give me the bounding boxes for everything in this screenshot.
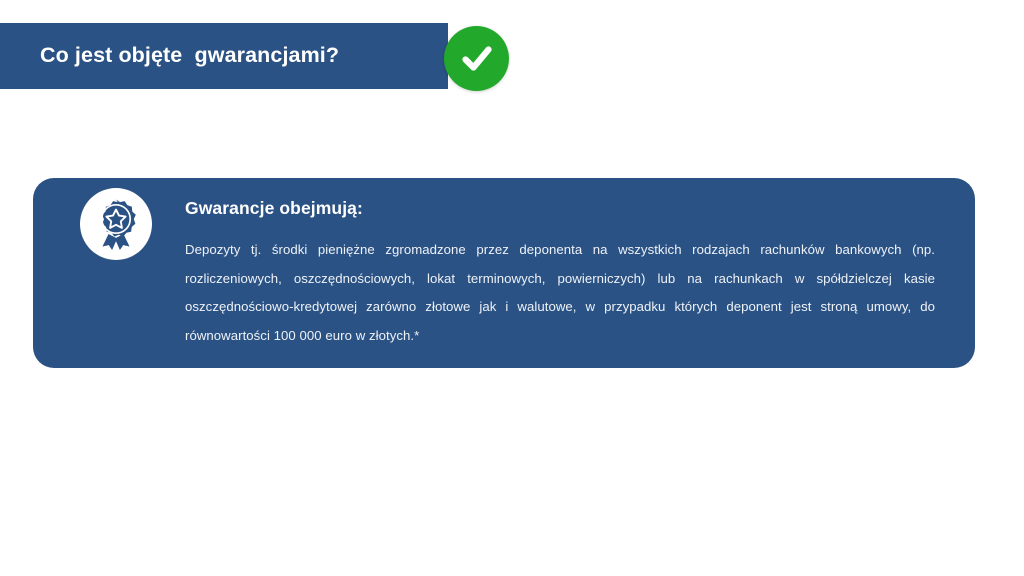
award-medal-icon: [80, 188, 152, 260]
guarantees-card: Gwarancje obejmują: Depozyty tj. środki …: [33, 178, 975, 368]
card-paragraph: Depozyty tj. środki pieniężne zgromadzon…: [185, 236, 945, 350]
card-body: Gwarancje obejmują: Depozyty tj. środki …: [185, 198, 945, 350]
card-heading: Gwarancje obejmują:: [185, 198, 945, 219]
page-title: Co jest objęte gwarancjami?: [40, 44, 339, 68]
check-mark-icon: [444, 26, 509, 91]
header-banner: Co jest objęte gwarancjami?: [0, 23, 448, 89]
slide-canvas: Co jest objęte gwarancjami? Gwarancje ob…: [0, 0, 1024, 576]
